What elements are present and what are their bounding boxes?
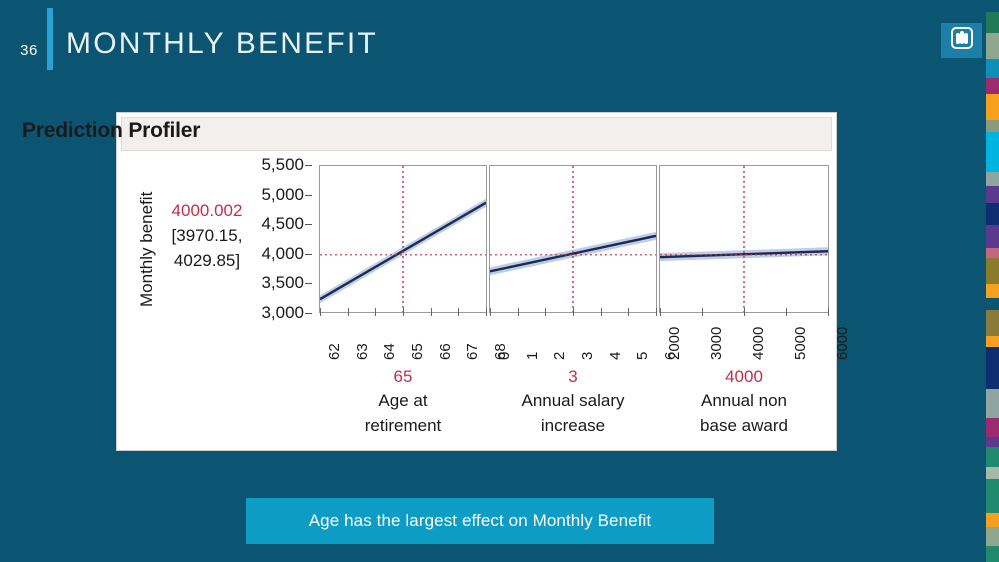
color-strip-segment — [986, 298, 999, 310]
x-axis-tick-label: 5000 — [792, 327, 809, 360]
color-strip-segment — [986, 59, 999, 78]
decorative-color-strip — [986, 0, 999, 562]
x-axis-ticks-panel-2: 0123456 — [489, 316, 657, 362]
x-axis-tick-mark — [601, 308, 602, 316]
y-axis-label-text: Monthly benefit — [137, 192, 157, 307]
x-axis-tick-mark — [320, 308, 321, 316]
profiler-header-bar — [121, 117, 832, 151]
x-axis-ticks-panel-3: 20003000400050006000 — [659, 316, 829, 362]
color-strip-segment — [986, 132, 999, 172]
color-strip-segment — [986, 258, 999, 284]
x-axis-tick-label: 4000 — [750, 327, 767, 360]
factor-name: Annual non — [649, 388, 839, 413]
profiler-panel-3[interactable] — [659, 165, 829, 313]
x-axis-ticks-panel-1: 62636465666768 — [319, 316, 487, 362]
y-axis-tick-mark — [305, 254, 312, 255]
factor-name: Age at — [309, 388, 497, 413]
color-strip-segment — [986, 0, 999, 12]
factor-block-3[interactable]: 4000Annual nonbase award — [649, 366, 839, 438]
color-strip-segment — [986, 248, 999, 258]
color-strip-segment — [986, 447, 999, 466]
x-axis-tick-mark — [348, 308, 349, 316]
color-strip-segment — [986, 389, 999, 418]
x-axis-tick-mark — [486, 308, 487, 316]
y-axis-tick-mark — [305, 224, 312, 225]
x-axis-tick-label: 1 — [524, 352, 541, 360]
x-axis-tick-label: 64 — [381, 343, 398, 360]
color-strip-segment — [986, 527, 999, 546]
color-strip-segment — [986, 172, 999, 186]
x-axis-tick-mark — [573, 308, 574, 316]
x-axis-tick-label: 66 — [437, 343, 454, 360]
color-strip-segment — [986, 546, 999, 562]
x-axis-tick-mark — [702, 308, 703, 316]
factor-current-value[interactable]: 65 — [309, 366, 497, 388]
y-axis-tick-label: 5,500 — [261, 155, 304, 175]
y-axis-tick-label: 3,500 — [261, 273, 304, 293]
page-number: 36 — [14, 42, 44, 59]
color-strip-segment — [986, 78, 999, 94]
y-axis-tick-mark — [305, 165, 312, 166]
color-strip-segment — [986, 310, 999, 336]
logo-figure-right — [964, 33, 968, 44]
predicted-value[interactable]: 4000.002 — [163, 198, 251, 223]
title-accent-bar — [47, 8, 53, 70]
x-axis-tick-label: 67 — [464, 343, 481, 360]
x-axis-tick-label: 6000 — [834, 327, 851, 360]
x-axis-tick-mark — [458, 308, 459, 316]
x-axis-tick-label: 3000 — [708, 327, 725, 360]
x-axis-tick-label: 0 — [496, 352, 513, 360]
x-axis-tick-label: 5 — [634, 352, 651, 360]
factor-block-2[interactable]: 3Annual salaryincrease — [479, 366, 667, 438]
x-axis-tick-mark — [660, 308, 661, 316]
x-axis-tick-label: 65 — [409, 343, 426, 360]
profiler-panel-2[interactable] — [489, 165, 657, 313]
x-axis-tick-label: 63 — [354, 343, 371, 360]
factor-current-value[interactable]: 4000 — [649, 366, 839, 388]
page-title: MONTHLY BENEFIT — [66, 27, 378, 61]
y-axis-ticks: 3,0003,5004,0004,5005,0005,500 — [246, 165, 312, 330]
y-axis-tick-mark — [305, 195, 312, 196]
x-axis-tick-mark — [545, 308, 546, 316]
y-axis-tick-label: 3,000 — [261, 303, 304, 323]
factor-name: base award — [649, 413, 839, 438]
predicted-value-block: 4000.002 [3970.15, 4029.85] — [163, 198, 251, 273]
factor-name: increase — [479, 413, 667, 438]
factor-current-value[interactable]: 3 — [479, 366, 667, 388]
color-strip-segment — [986, 336, 999, 346]
slide-header: 36 MONTHLY BENEFIT — [0, 0, 999, 100]
x-axis-tick-mark — [786, 308, 787, 316]
x-axis-tick-label: 2 — [551, 352, 568, 360]
x-axis-tick-mark — [744, 308, 745, 316]
profiler-plot-area — [319, 165, 827, 313]
profiler-panel-1[interactable] — [319, 165, 487, 313]
people-badge-icon — [951, 27, 973, 49]
color-strip-segment — [986, 467, 999, 479]
x-axis-tick-mark — [828, 308, 829, 316]
confidence-interval-lower: [3970.15, — [163, 223, 251, 248]
y-axis-tick-mark — [305, 283, 312, 284]
x-axis-tick-label: 3 — [579, 352, 596, 360]
color-strip-segment — [986, 418, 999, 437]
color-strip-segment — [986, 94, 999, 120]
x-axis-tick-label: 62 — [326, 343, 343, 360]
y-axis-tick-label: 4,000 — [261, 244, 304, 264]
color-strip-segment — [986, 284, 999, 298]
color-strip-segment — [986, 186, 999, 203]
x-axis-tick-mark — [431, 308, 432, 316]
logo-figure-center — [960, 31, 964, 44]
y-axis-label: Monthly benefit — [133, 155, 165, 315]
caption-text: Age has the largest effect on Monthly Be… — [309, 511, 652, 531]
color-strip-segment — [986, 437, 999, 447]
color-strip-segment — [986, 33, 999, 59]
y-axis-tick-label: 5,000 — [261, 185, 304, 205]
y-axis-tick-mark — [305, 313, 312, 314]
color-strip-segment — [986, 12, 999, 33]
x-axis-tick-label: 4 — [607, 352, 624, 360]
color-strip-segment — [986, 479, 999, 514]
x-axis-tick-mark — [403, 308, 404, 316]
factor-name: retirement — [309, 413, 497, 438]
factor-block-1[interactable]: 65Age atretirement — [309, 366, 497, 438]
factor-name: Annual salary — [479, 388, 667, 413]
x-axis-tick-mark — [490, 308, 491, 316]
caption-banner: Age has the largest effect on Monthly Be… — [246, 498, 714, 544]
color-strip-segment — [986, 513, 999, 527]
color-strip-segment — [986, 120, 999, 132]
y-axis-tick-label: 4,500 — [261, 214, 304, 234]
x-axis-tick-mark — [375, 308, 376, 316]
confidence-interval-upper: 4029.85] — [163, 248, 251, 273]
color-strip-segment — [986, 347, 999, 389]
x-axis-tick-mark — [628, 308, 629, 316]
x-axis-tick-label: 2000 — [666, 327, 683, 360]
x-axis-tick-mark — [518, 308, 519, 316]
color-strip-segment — [986, 225, 999, 248]
profiler-title: Prediction Profiler — [22, 119, 200, 143]
color-strip-segment — [986, 203, 999, 226]
slide-canvas: 36 MONTHLY BENEFIT Prediction Profiler M… — [0, 0, 999, 562]
x-axis-tick-mark — [656, 308, 657, 316]
